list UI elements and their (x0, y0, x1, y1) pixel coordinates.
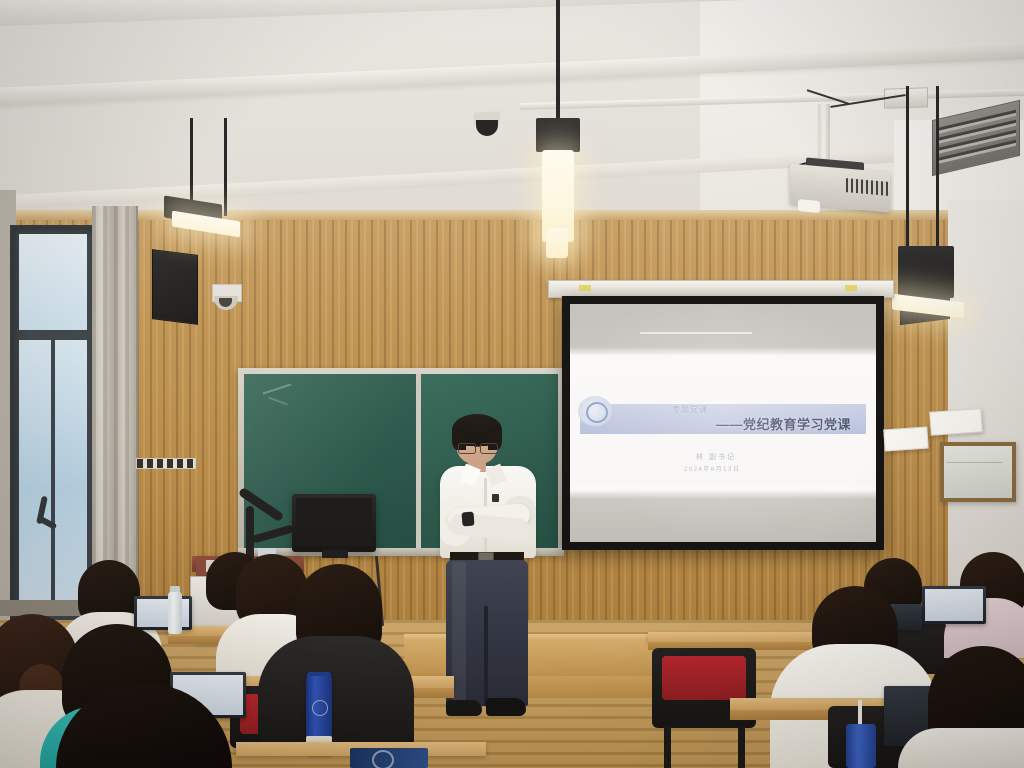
monitor-stand (322, 550, 348, 558)
projector-lens-icon (798, 199, 820, 213)
bulletin-board-line (946, 462, 1002, 463)
shirt-pocket-pen (492, 494, 499, 502)
classroom-photo: 专题党课 ——党纪教育学习党课 林 副书记 2024年6月13日 (0, 0, 1024, 768)
presenter-shoe (446, 700, 482, 716)
pendant-rod (190, 118, 193, 208)
laptop-screen (925, 589, 983, 621)
list-item (258, 636, 414, 746)
chair-leg (738, 726, 745, 768)
podium-monitor-screen (296, 498, 372, 546)
window-pane-top (19, 234, 87, 330)
wall-plaque-1 (883, 426, 928, 451)
chair-seatback (662, 656, 746, 700)
screen-glow (570, 304, 876, 542)
glasses-icon (480, 443, 498, 454)
glasses-icon (458, 443, 476, 454)
monitor-arm (246, 506, 254, 562)
blue-cup[interactable] (846, 724, 876, 768)
pendant-light-center-glow (546, 228, 568, 258)
bulletin-board (940, 442, 1016, 502)
pendant-rod (224, 118, 227, 216)
wall-socket-strip[interactable] (136, 458, 196, 469)
water-bottle[interactable] (168, 592, 182, 634)
wall-plaque-2 (929, 408, 983, 436)
wristwatch-icon (462, 512, 475, 527)
pendant-light-center (536, 118, 580, 152)
glasses-bridge-icon (474, 446, 480, 447)
chair-leg (664, 726, 671, 768)
pendant-rod (906, 86, 909, 256)
pendant-rod (936, 86, 939, 246)
wall-cornice (0, 210, 1024, 220)
desk (648, 632, 820, 642)
speaker-left-icon (152, 249, 198, 325)
trouser-highlight (452, 562, 466, 702)
notebook-logo-icon (372, 750, 394, 768)
pendant-rod (556, 0, 560, 118)
thermos-logo-icon (312, 700, 328, 716)
list-item (898, 728, 1024, 768)
presenter-shoe (486, 698, 526, 716)
window-mullion (51, 340, 55, 610)
trouser-seam (484, 606, 488, 706)
pendant-light-right (898, 246, 954, 298)
